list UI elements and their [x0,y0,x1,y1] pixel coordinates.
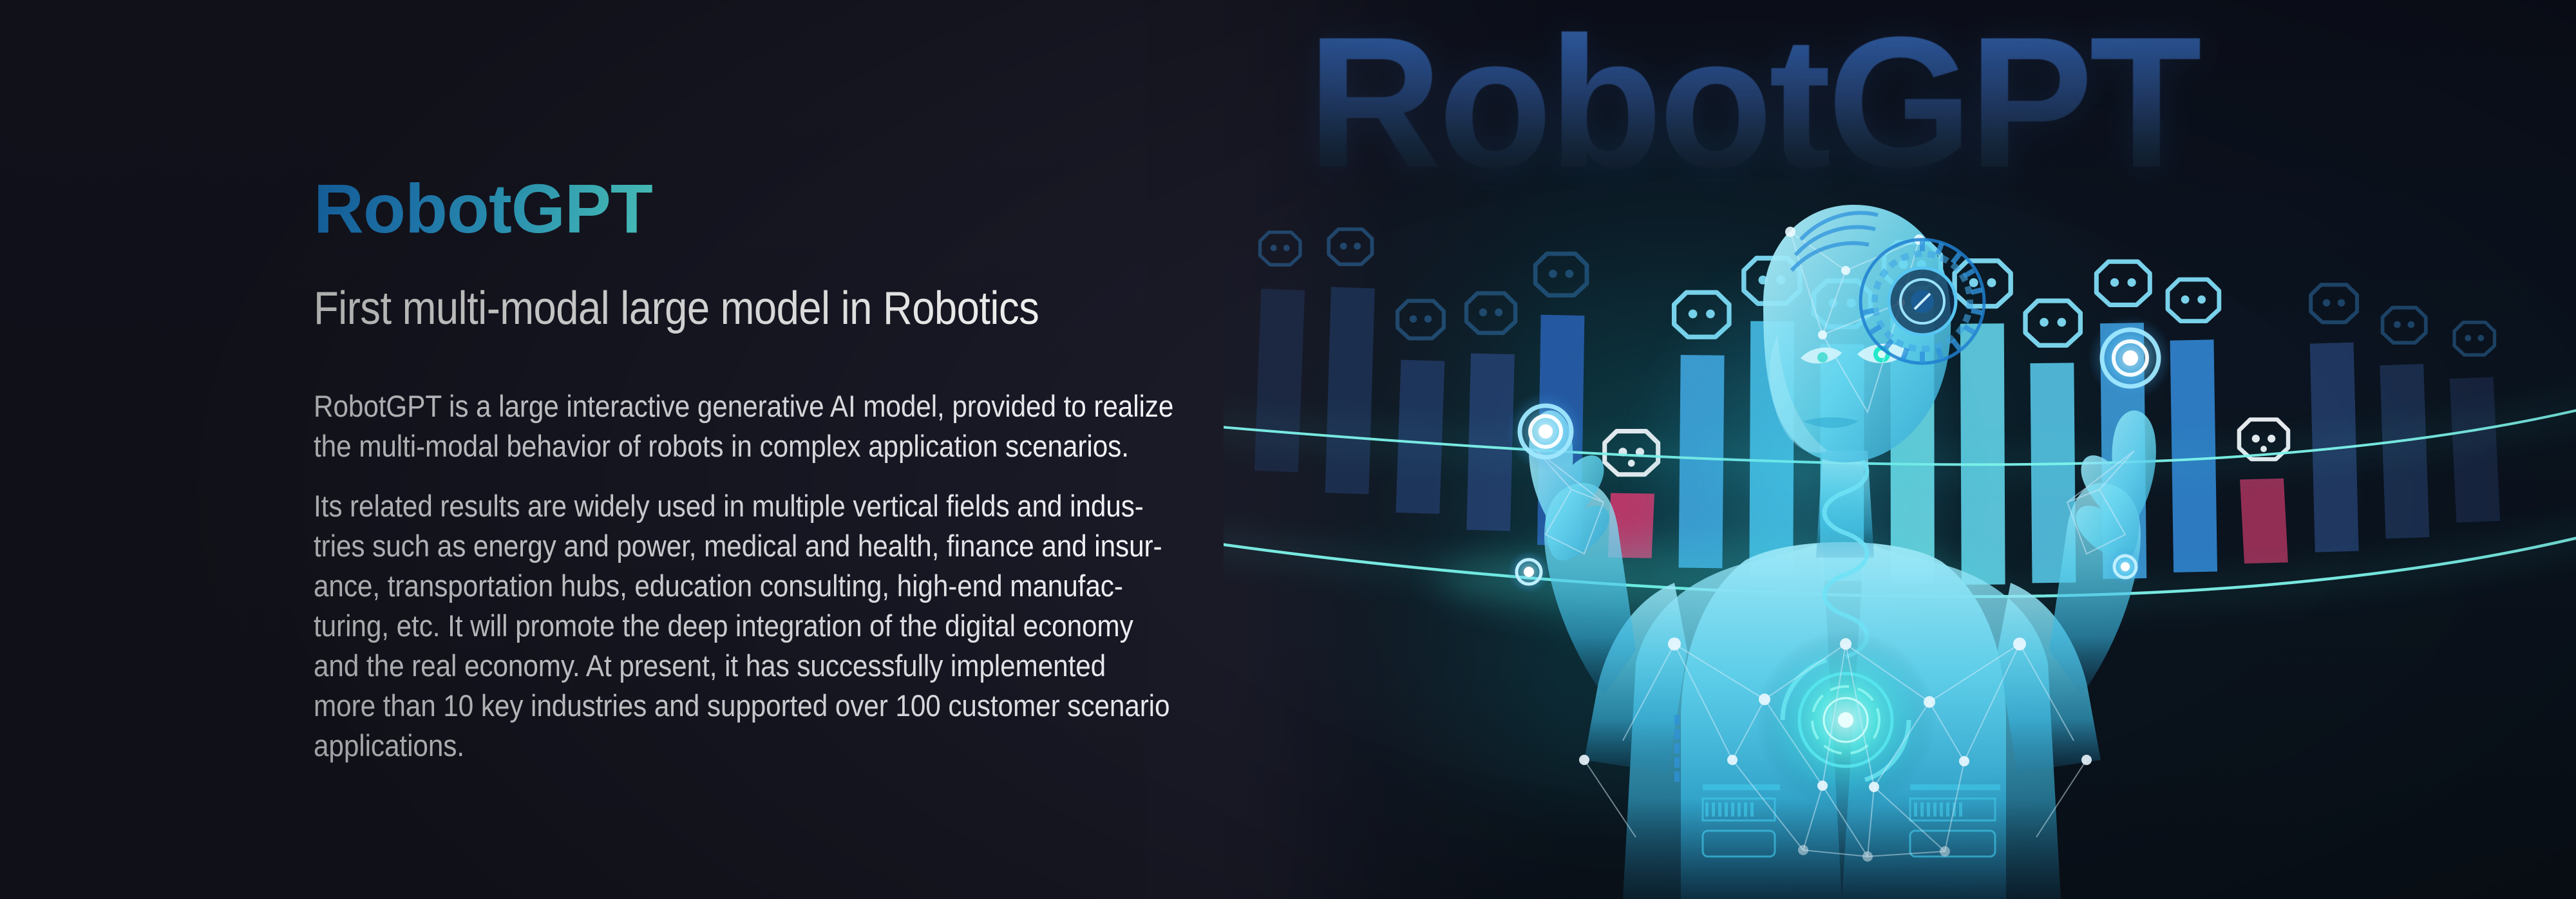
paragraph-line: more than 10 key industries and supporte… [314,686,1148,726]
paragraph-line: applications. [314,726,1148,766]
robot-figure [1224,0,2576,899]
page-headline: First multi-modal large model in Robotic… [314,283,1119,334]
paragraph-line: ance, transportation hubs, education con… [314,566,1148,606]
description-paragraph-2: Its related results are widely used in m… [314,486,1148,766]
hero-banner: RobotGPT First multi-modal large model i… [0,0,2576,899]
paragraph-line: turing, etc. It will promote the deep in… [314,606,1148,646]
paragraph-line: the multi-modal behavior of robots in co… [314,426,1148,466]
hero-artwork: RobotGPT RobotGPT [1224,0,2576,899]
robot-right-arm [2049,410,2156,696]
robot-chest-core [1756,630,1936,810]
paragraph-line: RobotGPT is a large interactive generati… [314,386,1148,426]
marker-ring-small-right [2106,547,2145,586]
paragraph-line: and the real economy. At present, it has… [314,646,1148,686]
touch-ring-right [2088,316,2173,401]
copy-column: RobotGPT First multi-modal large model i… [314,0,1215,899]
brand-title: RobotGPT [314,174,652,243]
marker-ring-small-left [1507,550,1551,594]
touch-ring-left [1506,392,1586,471]
paragraph-line: tries such as energy and power, medical … [314,526,1148,566]
paragraph-line: Its related results are widely used in m… [314,486,1148,526]
description-paragraph-1: RobotGPT is a large interactive generati… [314,386,1148,466]
robot-head [1763,205,1984,462]
